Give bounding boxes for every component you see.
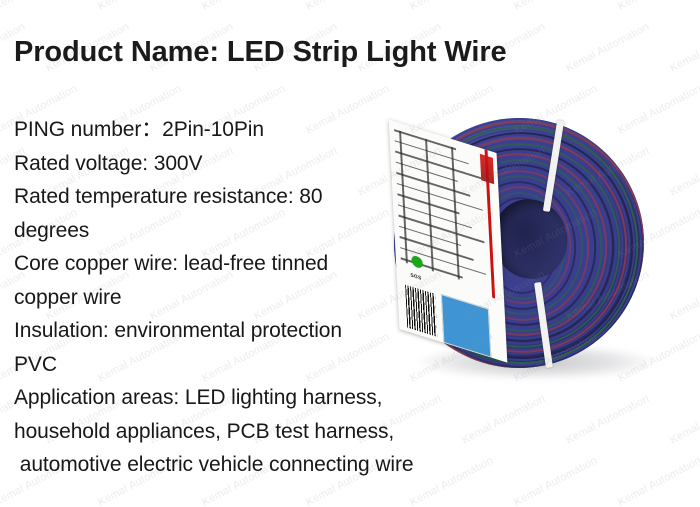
watermark-text: Kemal Automation bbox=[616, 455, 700, 507]
watermark-text: Kemal Automation bbox=[512, 0, 599, 13]
spec-line: household appliances, PCB test harness, bbox=[14, 415, 484, 449]
spec-line: Insulation: environmental protection bbox=[14, 314, 484, 348]
spec-line: Core copper wire: lead-free tinned bbox=[14, 247, 484, 281]
watermark-text: Kemal Automation bbox=[200, 0, 287, 13]
page-title: Product Name: LED Strip Light Wire bbox=[14, 36, 507, 69]
spec-line: Rated temperature resistance: 80 bbox=[14, 180, 484, 214]
watermark-text: Kemal Automation bbox=[512, 455, 599, 507]
watermark-text: Kemal Automation bbox=[616, 0, 700, 13]
watermark-text: Kemal Automation bbox=[0, 0, 79, 13]
specification-list: PING number：2Pin-10PinRated voltage: 300… bbox=[14, 113, 484, 482]
watermark-text: Kemal Automation bbox=[304, 0, 391, 13]
spec-line: PVC bbox=[14, 348, 484, 382]
spec-line: Application areas: LED lighting harness, bbox=[14, 381, 484, 415]
spec-line: PING number：2Pin-10Pin bbox=[14, 113, 484, 147]
spec-line: Rated voltage: 300V bbox=[14, 147, 484, 181]
product-spec-image: SGS Kemal AutomationKemal AutomationKema… bbox=[0, 0, 700, 507]
spec-line: automotive electric vehicle connecting w… bbox=[14, 448, 484, 482]
spec-line: degrees bbox=[14, 214, 484, 248]
watermark-text: Kemal Automation bbox=[408, 0, 495, 13]
watermark-text: Kemal Automation bbox=[96, 0, 183, 13]
spec-line: copper wire bbox=[14, 281, 484, 315]
watermark-text: Kemal Automation bbox=[564, 21, 651, 75]
watermark-text: Kemal Automation bbox=[668, 21, 700, 75]
